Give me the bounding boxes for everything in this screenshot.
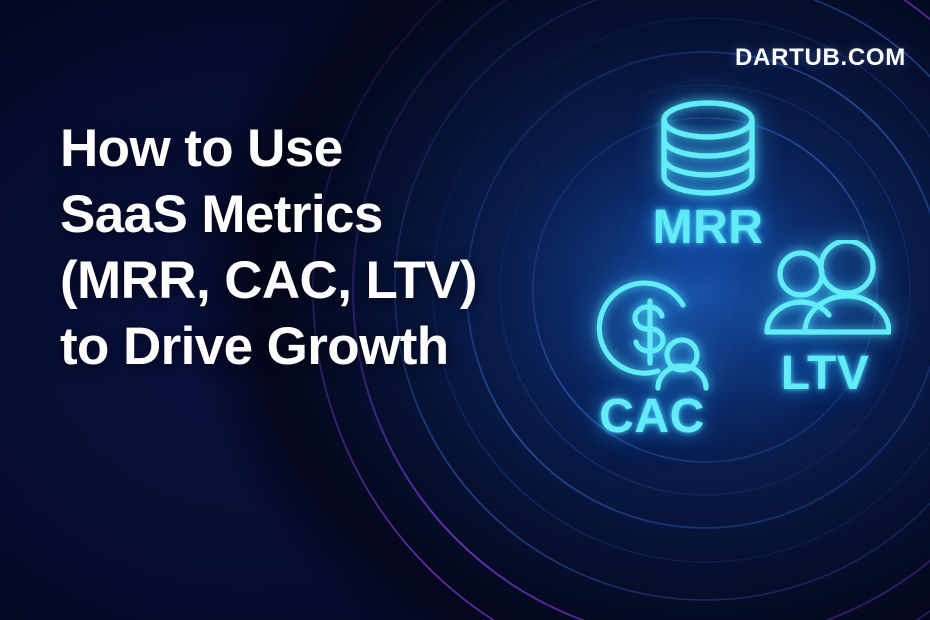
page-title: How to Use SaaS Metrics (MRR, CAC, LTV) …	[60, 116, 530, 380]
headline-line-4: to Drive Growth	[60, 314, 530, 380]
headline-line-2: SaaS Metrics	[60, 182, 530, 248]
metrics-cluster: MRR CAC	[480, 60, 930, 480]
metric-ltv-label: LTV	[725, 350, 925, 398]
database-cylinder-icon	[650, 98, 766, 198]
metric-mrr: MRR	[598, 98, 818, 252]
two-people-icon	[759, 240, 891, 348]
headline-line-1: How to Use	[60, 116, 530, 182]
metric-cac-label: CAC	[542, 393, 762, 441]
dollar-circle-person-icon	[588, 275, 716, 393]
metric-ltv: LTV	[725, 240, 925, 398]
headline-line-3: (MRR, CAC, LTV)	[60, 248, 530, 314]
banner-canvas: DARTUB.COM How to Use SaaS Metrics (MRR,…	[0, 0, 930, 620]
